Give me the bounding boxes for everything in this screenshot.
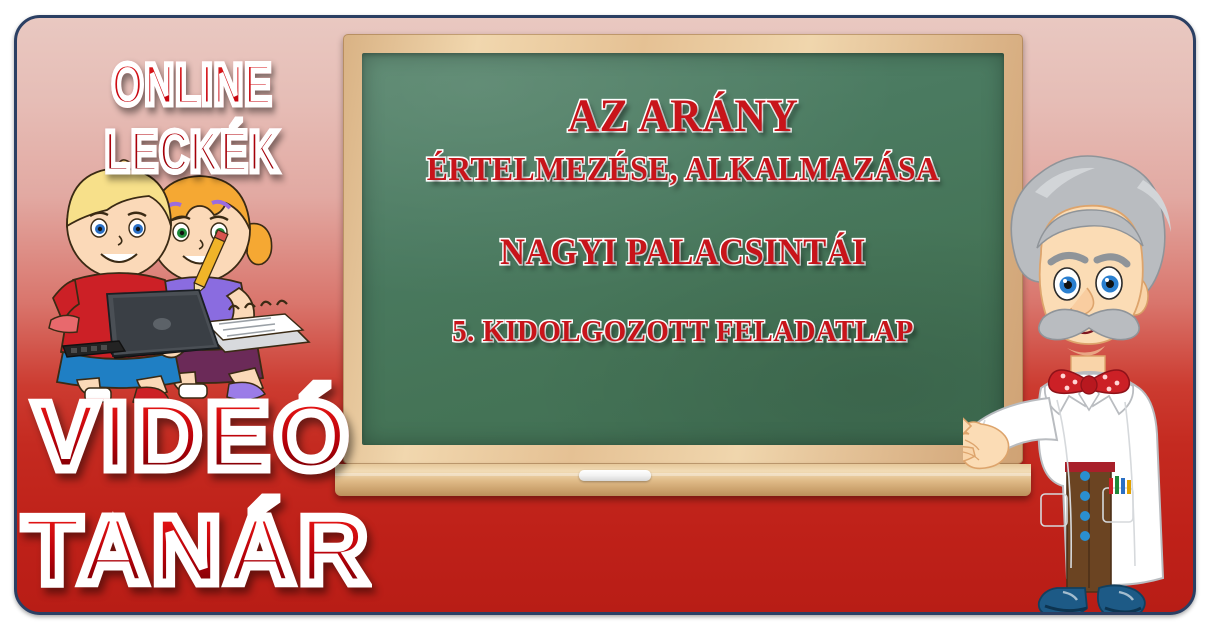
brand-kicker-online-leckek: ONLINE LECKÉK [50,52,334,186]
brand-logo-line-video: VIDEÓ [23,382,363,492]
chalkboard: AZ ARÁNY ÉRTELMEZÉSE, ALKALMAZÁSA NAGYI … [343,34,1023,464]
chalk-piece [579,470,651,481]
board-line-worksheet: 5. KIDOLGOZOTT FELADATLAP [384,315,981,347]
chalkboard-surface: AZ ARÁNY ÉRTELMEZÉSE, ALKALMAZÁSA NAGYI … [362,53,1004,445]
board-line-topic: NAGYI PALACSINTÁI [384,234,981,272]
professor-pointing-illustration [963,136,1196,615]
chalkboard-ledge [335,464,1031,496]
two-children-studying-illustration [33,148,333,403]
brand-logo-line-tanar: TANÁR [23,496,363,606]
board-line-title: AZ ARÁNY [384,93,981,141]
board-line-subtitle: ÉRTELMEZÉSE, ALKALMAZÁSA [384,153,981,188]
chalkboard-text-block: AZ ARÁNY ÉRTELMEZÉSE, ALKALMAZÁSA NAGYI … [362,93,1004,347]
lesson-thumbnail-card: ONLINE LECKÉK [14,15,1196,615]
